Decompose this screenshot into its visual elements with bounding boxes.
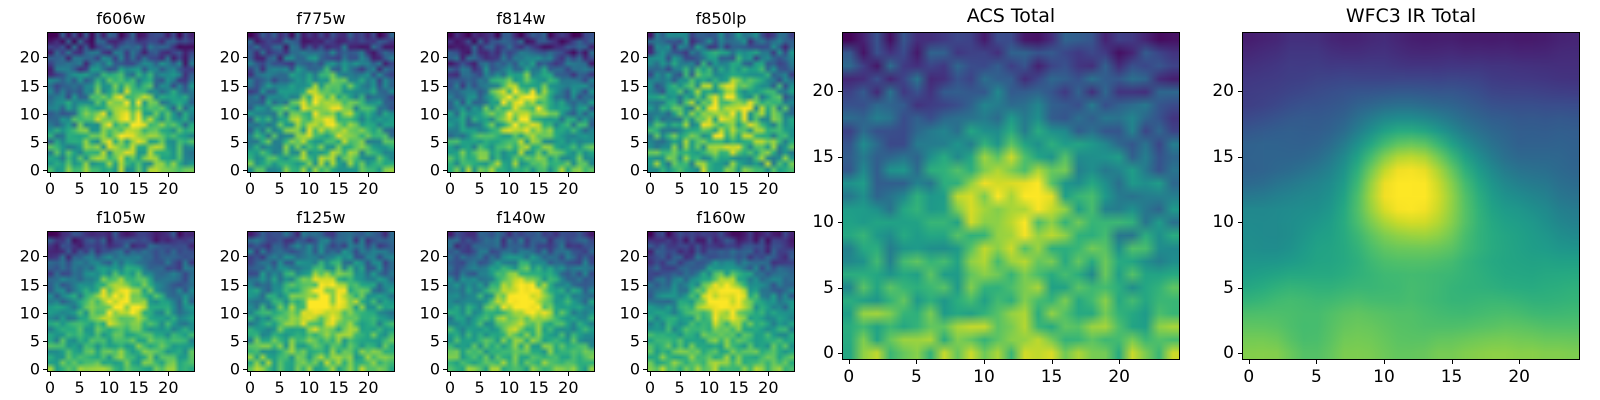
y-axis-tick xyxy=(838,353,842,354)
y-axis-tick-label: 20 xyxy=(1212,81,1234,101)
y-axis-tick-label: 20 xyxy=(220,48,240,67)
x-axis-tick-label: 10 xyxy=(99,179,119,198)
x-axis-tick-label: 15 xyxy=(729,179,749,198)
x-axis-tick-label: 10 xyxy=(499,378,519,397)
x-axis-tick xyxy=(680,372,681,376)
x-axis-tick-label: 20 xyxy=(1508,367,1530,387)
y-axis-tick-label: 15 xyxy=(620,76,640,95)
y-axis-tick-label: 15 xyxy=(620,275,640,294)
x-axis-tick-label: 15 xyxy=(529,179,549,198)
x-axis-tick xyxy=(509,173,510,177)
y-axis-tick-label: 0 xyxy=(230,161,240,180)
plot-area xyxy=(647,32,795,173)
x-axis-tick xyxy=(1249,360,1250,364)
x-axis-tick xyxy=(450,173,451,177)
x-axis-tick xyxy=(768,372,769,376)
y-axis-tick xyxy=(1238,157,1242,158)
y-axis-tick xyxy=(643,369,647,370)
y-axis-tick xyxy=(1238,288,1242,289)
y-axis-tick xyxy=(243,114,247,115)
y-axis-tick-label: 15 xyxy=(1212,147,1234,167)
heatmap-panel-wfc3-ir-total: WFC3 IR Total0510152005101520 xyxy=(1242,32,1580,360)
y-axis-tick-label: 5 xyxy=(230,331,240,350)
x-axis-tick xyxy=(849,360,850,364)
x-axis-tick-label: 15 xyxy=(129,378,149,397)
y-axis-tick xyxy=(443,369,447,370)
x-axis-tick xyxy=(250,173,251,177)
x-axis-tick-label: 5 xyxy=(274,179,284,198)
x-axis-tick-label: 10 xyxy=(699,179,719,198)
panel-title: f140w xyxy=(447,209,595,227)
panel-title: f160w xyxy=(647,209,795,227)
heatmap-image xyxy=(448,232,594,371)
y-axis-tick xyxy=(643,341,647,342)
y-axis-tick xyxy=(43,57,47,58)
x-axis-tick xyxy=(1452,360,1453,364)
y-axis-tick xyxy=(243,285,247,286)
x-axis-tick-label: 20 xyxy=(558,179,578,198)
x-axis-tick xyxy=(1052,360,1053,364)
x-axis-tick xyxy=(1119,360,1120,364)
y-axis-tick-label: 0 xyxy=(30,360,40,379)
y-axis-tick-label: 5 xyxy=(430,331,440,350)
y-axis-tick xyxy=(243,256,247,257)
y-axis-tick-label: 0 xyxy=(30,161,40,180)
x-axis-tick-label: 0 xyxy=(45,378,55,397)
y-axis-tick xyxy=(243,142,247,143)
x-axis-tick xyxy=(309,173,310,177)
x-axis-tick xyxy=(509,372,510,376)
y-axis-tick-label: 10 xyxy=(220,303,240,322)
x-axis-tick xyxy=(168,173,169,177)
y-axis-tick xyxy=(43,142,47,143)
y-axis-tick xyxy=(43,285,47,286)
y-axis-tick-label: 20 xyxy=(220,247,240,266)
x-axis-tick-label: 5 xyxy=(1311,367,1322,387)
x-axis-tick xyxy=(739,372,740,376)
x-axis-tick xyxy=(109,372,110,376)
y-axis-tick xyxy=(43,369,47,370)
heatmap-image xyxy=(1243,33,1579,359)
y-axis-tick-label: 10 xyxy=(420,104,440,123)
y-axis-tick xyxy=(243,57,247,58)
y-axis-tick-label: 5 xyxy=(30,331,40,350)
x-axis-tick-label: 15 xyxy=(329,378,349,397)
y-axis-tick xyxy=(643,285,647,286)
x-axis-tick xyxy=(650,173,651,177)
y-axis-tick-label: 5 xyxy=(823,278,834,298)
y-axis-tick-label: 10 xyxy=(20,104,40,123)
x-axis-tick-label: 10 xyxy=(699,378,719,397)
x-axis-tick xyxy=(50,372,51,376)
panel-title: WFC3 IR Total xyxy=(1242,6,1580,27)
y-axis-tick-label: 10 xyxy=(20,303,40,322)
x-axis-tick xyxy=(368,372,369,376)
x-axis-tick-label: 5 xyxy=(274,378,284,397)
x-axis-tick-label: 5 xyxy=(911,367,922,387)
heatmap-panel-f814w: f814w0510152005101520 xyxy=(447,32,595,173)
y-axis-tick-label: 10 xyxy=(420,303,440,322)
y-axis-tick-label: 10 xyxy=(220,104,240,123)
x-axis-tick xyxy=(250,372,251,376)
y-axis-tick-label: 5 xyxy=(630,331,640,350)
x-axis-tick xyxy=(650,372,651,376)
y-axis-tick xyxy=(243,313,247,314)
y-axis-tick xyxy=(43,313,47,314)
y-axis-tick-label: 0 xyxy=(823,343,834,363)
x-axis-tick xyxy=(50,173,51,177)
y-axis-tick-label: 20 xyxy=(20,48,40,67)
y-axis-tick-label: 0 xyxy=(1223,343,1234,363)
x-axis-tick-label: 10 xyxy=(973,367,995,387)
x-axis-tick xyxy=(568,372,569,376)
x-axis-tick xyxy=(916,360,917,364)
y-axis-tick-label: 15 xyxy=(420,275,440,294)
y-axis-tick xyxy=(838,91,842,92)
x-axis-tick xyxy=(339,173,340,177)
x-axis-tick xyxy=(309,372,310,376)
x-axis-tick-label: 15 xyxy=(729,378,749,397)
y-axis-tick xyxy=(838,157,842,158)
y-axis-tick xyxy=(43,114,47,115)
y-axis-tick xyxy=(643,313,647,314)
y-axis-tick xyxy=(643,57,647,58)
x-axis-tick-label: 5 xyxy=(474,179,484,198)
y-axis-tick-label: 5 xyxy=(630,132,640,151)
y-axis-tick-label: 0 xyxy=(430,360,440,379)
x-axis-tick-label: 0 xyxy=(645,378,655,397)
heatmap-panel-f775w: f775w0510152005101520 xyxy=(247,32,395,173)
x-axis-tick-label: 5 xyxy=(474,378,484,397)
y-axis-tick-label: 5 xyxy=(430,132,440,151)
y-axis-tick xyxy=(643,86,647,87)
x-axis-tick xyxy=(739,173,740,177)
y-axis-tick xyxy=(243,86,247,87)
x-axis-tick xyxy=(168,372,169,376)
heatmap-image xyxy=(448,33,594,172)
x-axis-tick-label: 5 xyxy=(674,179,684,198)
x-axis-tick xyxy=(1519,360,1520,364)
x-axis-tick-label: 5 xyxy=(74,378,84,397)
y-axis-tick-label: 10 xyxy=(812,212,834,232)
y-axis-tick-label: 15 xyxy=(420,76,440,95)
heatmap-panel-f140w: f140w0510152005101520 xyxy=(447,231,595,372)
y-axis-tick-label: 20 xyxy=(620,247,640,266)
x-axis-tick-label: 5 xyxy=(74,179,84,198)
x-axis-tick xyxy=(280,173,281,177)
plot-area xyxy=(47,231,195,372)
y-axis-tick xyxy=(243,369,247,370)
x-axis-tick xyxy=(80,372,81,376)
x-axis-tick xyxy=(539,372,540,376)
x-axis-tick-label: 20 xyxy=(158,179,178,198)
y-axis-tick xyxy=(243,341,247,342)
x-axis-tick-label: 0 xyxy=(445,378,455,397)
x-axis-tick-label: 0 xyxy=(1243,367,1254,387)
x-axis-tick xyxy=(280,372,281,376)
y-axis-tick xyxy=(1238,222,1242,223)
x-axis-tick-label: 10 xyxy=(1373,367,1395,387)
x-axis-tick-label: 10 xyxy=(299,179,319,198)
plot-area xyxy=(842,32,1180,360)
panel-title: f105w xyxy=(47,209,195,227)
y-axis-tick-label: 15 xyxy=(220,76,240,95)
x-axis-tick-label: 20 xyxy=(1108,367,1130,387)
x-axis-tick-label: 15 xyxy=(1441,367,1463,387)
y-axis-tick-label: 20 xyxy=(620,48,640,67)
y-axis-tick xyxy=(243,170,247,171)
x-axis-tick xyxy=(1384,360,1385,364)
y-axis-tick-label: 5 xyxy=(230,132,240,151)
x-axis-tick-label: 20 xyxy=(358,378,378,397)
panel-title: f814w xyxy=(447,10,595,28)
x-axis-tick-label: 15 xyxy=(529,378,549,397)
x-axis-tick-label: 10 xyxy=(499,179,519,198)
y-axis-tick-label: 15 xyxy=(812,147,834,167)
x-axis-tick-label: 15 xyxy=(329,179,349,198)
y-axis-tick-label: 20 xyxy=(420,247,440,266)
y-axis-tick-label: 10 xyxy=(620,104,640,123)
y-axis-tick xyxy=(1238,91,1242,92)
x-axis-tick-label: 15 xyxy=(1041,367,1063,387)
y-axis-tick xyxy=(43,86,47,87)
heatmap-image xyxy=(648,33,794,172)
y-axis-tick xyxy=(838,222,842,223)
x-axis-tick xyxy=(768,173,769,177)
y-axis-tick-label: 20 xyxy=(812,81,834,101)
y-axis-tick xyxy=(1238,353,1242,354)
plot-area xyxy=(47,32,195,173)
heatmap-panel-acs-total: ACS Total0510152005101520 xyxy=(842,32,1180,360)
plot-area xyxy=(247,231,395,372)
x-axis-tick-label: 0 xyxy=(245,378,255,397)
x-axis-tick xyxy=(139,372,140,376)
y-axis-tick xyxy=(838,288,842,289)
x-axis-tick xyxy=(984,360,985,364)
y-axis-tick xyxy=(443,57,447,58)
x-axis-tick xyxy=(680,173,681,177)
y-axis-tick-label: 0 xyxy=(430,161,440,180)
x-axis-tick-label: 15 xyxy=(129,179,149,198)
y-axis-tick xyxy=(443,256,447,257)
y-axis-tick xyxy=(443,285,447,286)
x-axis-tick-label: 0 xyxy=(245,179,255,198)
y-axis-tick-label: 20 xyxy=(20,247,40,266)
x-axis-tick xyxy=(109,173,110,177)
y-axis-tick-label: 10 xyxy=(1212,212,1234,232)
heatmap-image xyxy=(843,33,1179,359)
y-axis-tick xyxy=(43,341,47,342)
y-axis-tick xyxy=(643,114,647,115)
x-axis-tick-label: 20 xyxy=(758,378,778,397)
y-axis-tick xyxy=(443,170,447,171)
x-axis-tick-label: 0 xyxy=(843,367,854,387)
x-axis-tick-label: 20 xyxy=(758,179,778,198)
heatmap-panel-f105w: f105w0510152005101520 xyxy=(47,231,195,372)
y-axis-tick-label: 0 xyxy=(630,360,640,379)
x-axis-tick-label: 0 xyxy=(445,179,455,198)
x-axis-tick-label: 10 xyxy=(99,378,119,397)
y-axis-tick xyxy=(643,256,647,257)
y-axis-tick-label: 5 xyxy=(1223,278,1234,298)
heatmap-image xyxy=(48,232,194,371)
y-axis-tick-label: 15 xyxy=(220,275,240,294)
x-axis-tick xyxy=(80,173,81,177)
x-axis-tick-label: 0 xyxy=(45,179,55,198)
y-axis-tick xyxy=(443,142,447,143)
y-axis-tick xyxy=(43,256,47,257)
y-axis-tick xyxy=(643,142,647,143)
x-axis-tick-label: 5 xyxy=(674,378,684,397)
x-axis-tick xyxy=(709,372,710,376)
plot-area xyxy=(447,32,595,173)
y-axis-tick-label: 15 xyxy=(20,76,40,95)
y-axis-tick xyxy=(443,114,447,115)
y-axis-tick xyxy=(43,170,47,171)
y-axis-tick-label: 10 xyxy=(620,303,640,322)
y-axis-tick-label: 20 xyxy=(420,48,440,67)
x-axis-tick xyxy=(450,372,451,376)
y-axis-tick xyxy=(643,170,647,171)
panel-title: f606w xyxy=(47,10,195,28)
panel-title: f125w xyxy=(247,209,395,227)
x-axis-tick xyxy=(1316,360,1317,364)
heatmap-panel-f160w: f160w0510152005101520 xyxy=(647,231,795,372)
heatmap-panel-f850lp: f850lp0510152005101520 xyxy=(647,32,795,173)
y-axis-tick-label: 0 xyxy=(230,360,240,379)
y-axis-tick xyxy=(443,341,447,342)
x-axis-tick xyxy=(339,372,340,376)
y-axis-tick-label: 0 xyxy=(630,161,640,180)
plot-area xyxy=(447,231,595,372)
panel-title: ACS Total xyxy=(842,6,1180,27)
plot-area xyxy=(1242,32,1580,360)
x-axis-tick-label: 20 xyxy=(158,378,178,397)
heatmap-image xyxy=(248,232,394,371)
x-axis-tick-label: 10 xyxy=(299,378,319,397)
x-axis-tick-label: 20 xyxy=(558,378,578,397)
x-axis-tick xyxy=(709,173,710,177)
x-axis-tick-label: 0 xyxy=(645,179,655,198)
heatmap-image xyxy=(248,33,394,172)
x-axis-tick-label: 20 xyxy=(358,179,378,198)
panel-title: f775w xyxy=(247,10,395,28)
figure-canvas: f606w0510152005101520f775w05101520051015… xyxy=(0,0,1600,400)
plot-area xyxy=(647,231,795,372)
x-axis-tick xyxy=(480,173,481,177)
y-axis-tick-label: 15 xyxy=(20,275,40,294)
heatmap-image xyxy=(48,33,194,172)
x-axis-tick xyxy=(568,173,569,177)
x-axis-tick xyxy=(368,173,369,177)
y-axis-tick xyxy=(443,313,447,314)
y-axis-tick-label: 5 xyxy=(30,132,40,151)
y-axis-tick xyxy=(443,86,447,87)
heatmap-panel-f606w: f606w0510152005101520 xyxy=(47,32,195,173)
plot-area xyxy=(247,32,395,173)
x-axis-tick xyxy=(539,173,540,177)
heatmap-image xyxy=(648,232,794,371)
heatmap-panel-f125w: f125w0510152005101520 xyxy=(247,231,395,372)
panel-title: f850lp xyxy=(647,10,795,28)
x-axis-tick xyxy=(480,372,481,376)
x-axis-tick xyxy=(139,173,140,177)
